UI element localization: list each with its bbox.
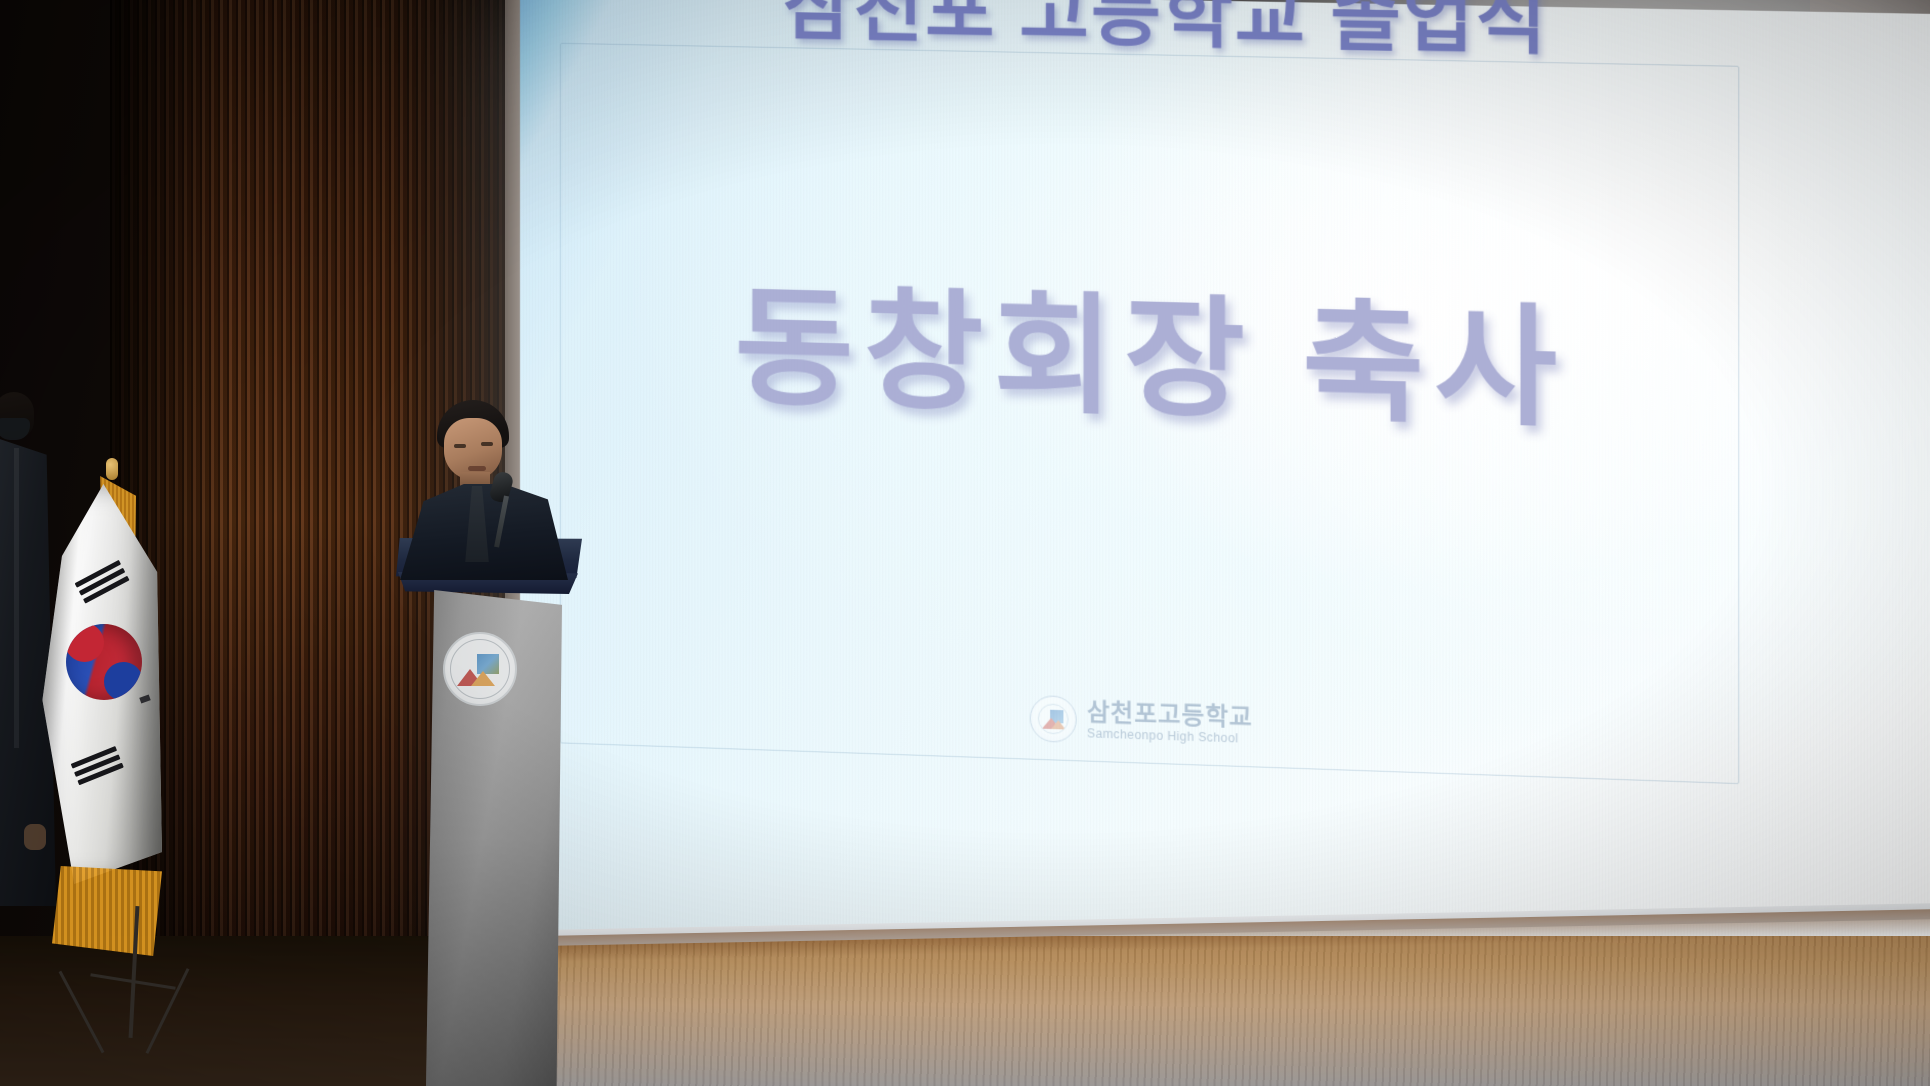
taeguk-blue-half	[104, 662, 142, 700]
crest-inner-ring	[1038, 703, 1069, 734]
taeguk-circle	[66, 624, 142, 700]
school-name-block: 삼천포고등학교 Samcheonpo High School	[1087, 700, 1253, 746]
flag-stand	[70, 906, 210, 1056]
flag-stand-pole	[129, 906, 140, 1038]
school-crest-icon	[1030, 695, 1077, 743]
taeguk-red-half	[66, 624, 104, 662]
crest-orange-mountain	[1051, 720, 1065, 730]
screenshot-root: 삼천포 고등학교 졸업식 동창회장 축사 삼천포고등학교 Samcheonpo …	[0, 0, 1930, 1086]
slide-footer-logo: 삼천포고등학교 Samcheonpo High School	[1030, 695, 1253, 749]
slide-headline: 동창회장 축사	[580, 239, 1729, 456]
flag-stand-leg-right	[146, 968, 190, 1054]
speaker-mouth	[468, 466, 486, 471]
speaker-figure	[382, 400, 582, 570]
projection-screen: 삼천포 고등학교 졸업식 동창회장 축사 삼천포고등학교 Samcheonpo …	[520, 0, 1930, 1046]
face-mask-icon	[0, 418, 30, 440]
seal-orange-mountain	[471, 671, 495, 686]
speaker-eye-left	[454, 444, 466, 448]
attendee-coat-lapel	[14, 448, 19, 748]
podium	[396, 538, 582, 1086]
flag-pole-finial	[106, 458, 118, 480]
taegukgi-flag-icon	[30, 466, 210, 1026]
school-seal-icon	[443, 632, 517, 706]
speaker-eye-right	[481, 442, 493, 446]
